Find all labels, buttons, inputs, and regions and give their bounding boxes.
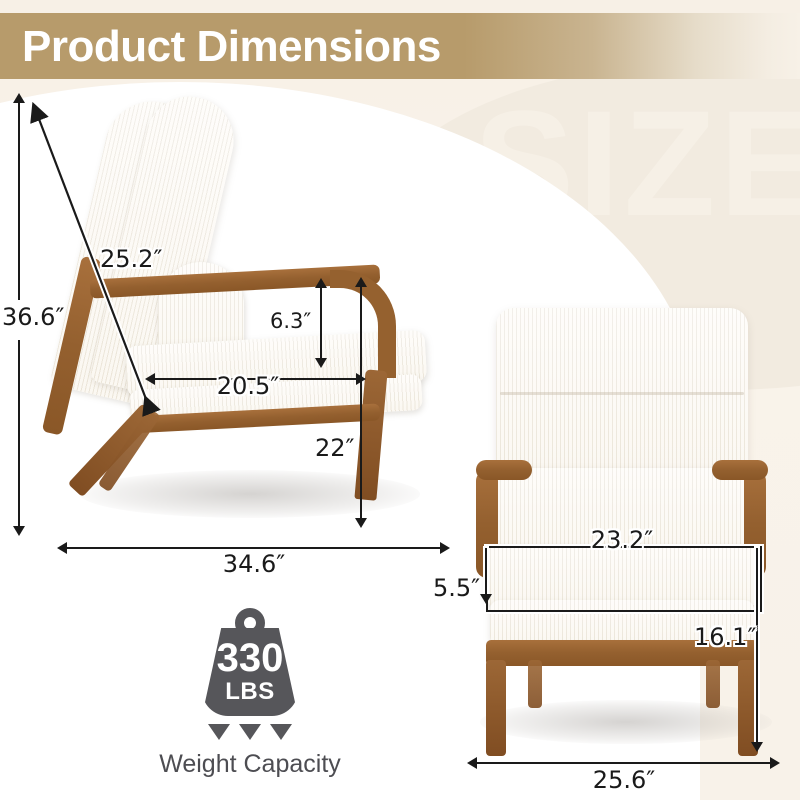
weight-icon: 330 LBS bbox=[190, 608, 310, 718]
overall-height-arrow-bottom bbox=[13, 526, 25, 536]
armrest-above-seat-line bbox=[320, 286, 322, 360]
front-view-backrest bbox=[496, 308, 748, 484]
dim-overall-depth: 34.6″ bbox=[223, 550, 285, 578]
front-view-right-rear-leg bbox=[706, 660, 720, 708]
dim-seat-height: 16.1″ bbox=[694, 623, 756, 651]
weight-capacity-number: 330 bbox=[190, 638, 310, 678]
overall-width-arrow-right bbox=[770, 757, 780, 769]
armrest-height-arrow-bottom bbox=[355, 518, 367, 528]
header-banner: Product Dimensions bbox=[0, 13, 800, 79]
triangle-down-icon-2 bbox=[239, 724, 261, 740]
weight-capacity-label: Weight Capacity bbox=[150, 750, 350, 779]
cushion-thickness-arrow-bottom bbox=[480, 594, 492, 604]
triangle-down-icon-1 bbox=[208, 724, 230, 740]
dim-seat-depth: 20.5″ bbox=[217, 372, 279, 400]
product-dimensions-infographic: SIZE Product Dimensions bbox=[0, 0, 800, 800]
front-view-right-arm-cap bbox=[712, 460, 768, 480]
cushion-thickness-line bbox=[485, 548, 487, 596]
triangle-down-icon-3 bbox=[270, 724, 292, 740]
dim-overall-height: 36.6″ bbox=[2, 303, 64, 331]
overall-depth-line bbox=[64, 547, 444, 549]
front-view-left-rear-leg bbox=[528, 660, 542, 708]
dim-armrest-above-seat: 6.3″ bbox=[270, 309, 311, 333]
overall-height-line-upper bbox=[18, 100, 20, 300]
front-view-backrest-seam bbox=[500, 392, 744, 395]
weight-arrow-triangles bbox=[190, 724, 310, 742]
armrest-height-line bbox=[360, 285, 362, 520]
overall-width-line bbox=[474, 762, 774, 764]
dim-cushion-thickness: 5.5″ bbox=[433, 574, 480, 602]
weight-capacity-unit: LBS bbox=[190, 680, 310, 704]
armrest-above-seat-arrow-bottom bbox=[315, 358, 327, 368]
dim-seat-width: 23.2″ bbox=[591, 526, 653, 554]
dim-armrest-height: 22″ bbox=[315, 434, 355, 462]
seat-height-arrow-bottom bbox=[751, 742, 763, 752]
front-view-seat-outline-box bbox=[486, 546, 762, 612]
chair-side-view bbox=[30, 90, 450, 540]
dim-backrest-height: 25.2″ bbox=[100, 245, 162, 273]
overall-height-line-lower bbox=[18, 340, 20, 528]
page-title: Product Dimensions bbox=[22, 25, 441, 69]
front-view-left-front-leg bbox=[486, 660, 506, 756]
weight-capacity-badge: 330 LBS Weight Capacity bbox=[150, 608, 350, 779]
overall-depth-arrow-right bbox=[440, 542, 450, 554]
front-view-floor-shadow bbox=[480, 700, 772, 744]
dim-overall-width: 25.6″ bbox=[593, 766, 655, 794]
front-view-left-arm-cap bbox=[476, 460, 532, 480]
